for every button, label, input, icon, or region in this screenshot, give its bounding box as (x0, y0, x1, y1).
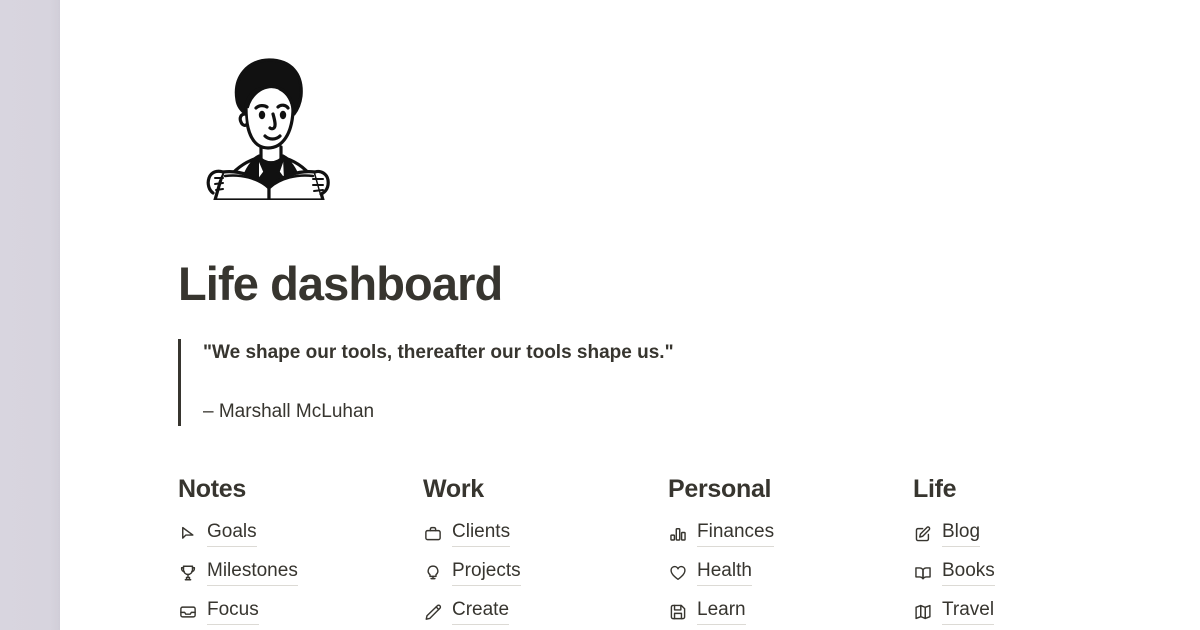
inbox-tray-icon (178, 602, 198, 622)
link-item-create[interactable]: Create (423, 592, 668, 630)
link-label-books[interactable]: Books (942, 559, 995, 586)
bar-chart-icon (668, 524, 688, 544)
link-label-projects[interactable]: Projects (452, 559, 521, 586)
link-label-travel[interactable]: Travel (942, 598, 994, 625)
page-root: Life dashboard "We shape our tools, ther… (0, 0, 1200, 630)
column-title-personal: Personal (668, 474, 913, 504)
page-title: Life dashboard (178, 258, 502, 311)
column-title-work: Work (423, 474, 668, 504)
link-columns: Notes Goals Milestones (178, 474, 1200, 630)
column-title-life: Life (913, 474, 1158, 504)
link-label-focus[interactable]: Focus (207, 598, 259, 625)
link-item-focus[interactable]: Focus (178, 592, 423, 630)
link-label-health[interactable]: Health (697, 559, 752, 586)
link-label-milestones[interactable]: Milestones (207, 559, 298, 586)
column-title-notes: Notes (178, 474, 423, 504)
quote-attribution: – Marshall McLuhan (203, 398, 1038, 427)
person-reading-book-illustration (193, 48, 343, 200)
link-item-health[interactable]: Health (668, 553, 913, 592)
link-label-learn[interactable]: Learn (697, 598, 746, 625)
quote-text: "We shape our tools, thereafter our tool… (203, 339, 1038, 368)
link-item-goals[interactable]: Goals (178, 514, 423, 553)
link-label-blog[interactable]: Blog (942, 520, 980, 547)
trophy-icon (178, 563, 198, 583)
link-item-blog[interactable]: Blog (913, 514, 1158, 553)
link-label-create[interactable]: Create (452, 598, 509, 625)
open-book-icon (913, 563, 933, 583)
link-label-goals[interactable]: Goals (207, 520, 257, 547)
column-work: Work Clients Projects (423, 474, 668, 630)
column-notes: Notes Goals Milestones (178, 474, 423, 630)
heart-icon (668, 563, 688, 583)
quote-block: "We shape our tools, thereafter our tool… (178, 339, 1038, 426)
link-item-projects[interactable]: Projects (423, 553, 668, 592)
link-item-books[interactable]: Books (913, 553, 1158, 592)
floppy-save-icon (668, 602, 688, 622)
link-label-clients[interactable]: Clients (452, 520, 510, 547)
briefcase-icon (423, 524, 443, 544)
column-personal: Personal Finances Health (668, 474, 913, 630)
link-item-milestones[interactable]: Milestones (178, 553, 423, 592)
lightbulb-icon (423, 563, 443, 583)
edit-square-icon (913, 524, 933, 544)
page-content: Life dashboard "We shape our tools, ther… (60, 0, 1200, 630)
folded-map-icon (913, 602, 933, 622)
cursor-arrow-icon (178, 524, 198, 544)
quote-spacer (203, 368, 1038, 398)
left-sidebar-strip[interactable] (0, 0, 60, 630)
link-item-learn[interactable]: Learn (668, 592, 913, 630)
link-item-travel[interactable]: Travel (913, 592, 1158, 630)
link-label-finances[interactable]: Finances (697, 520, 774, 547)
pencil-icon (423, 602, 443, 622)
link-item-finances[interactable]: Finances (668, 514, 913, 553)
column-life: Life Blog Books T (913, 474, 1158, 630)
link-item-clients[interactable]: Clients (423, 514, 668, 553)
